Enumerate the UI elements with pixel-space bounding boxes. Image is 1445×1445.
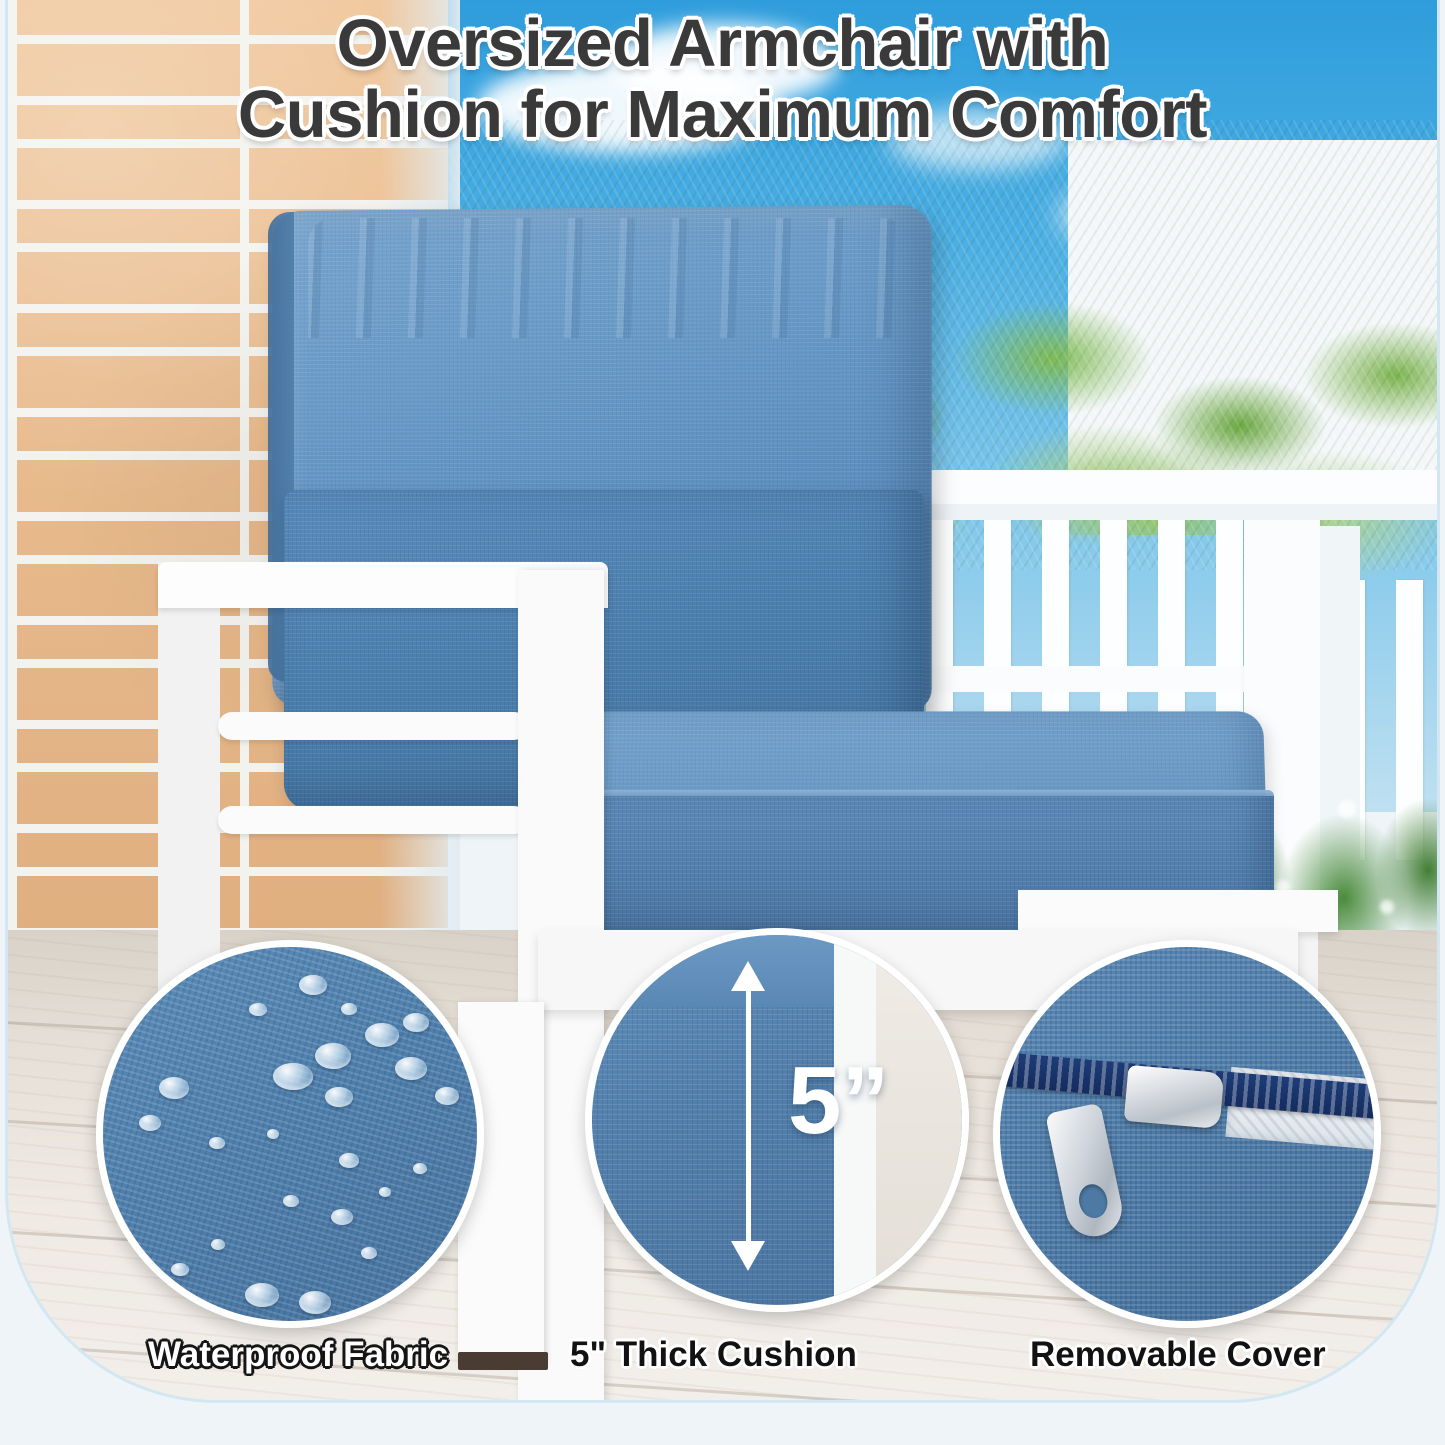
zipper-slider-icon bbox=[1124, 1065, 1225, 1129]
measurement-value: 5” bbox=[788, 1053, 889, 1149]
armrest-slat bbox=[218, 806, 528, 834]
feature-circle-removable-cover bbox=[993, 940, 1381, 1328]
product-feature-image: 5” Oversized Armchair with Cushion for M… bbox=[0, 0, 1445, 1445]
headline-line-1: Oversized Armchair with bbox=[337, 6, 1109, 81]
left-armrest bbox=[158, 562, 608, 910]
feature-circle-thickness: 5” bbox=[585, 928, 969, 1312]
feature-circle-waterproof bbox=[96, 940, 484, 1328]
chair-leg-cap bbox=[458, 1352, 548, 1370]
feature-label-waterproof: Waterproof Fabric bbox=[148, 1335, 448, 1375]
page-title: Oversized Armchair with Cushion for Maxi… bbox=[0, 8, 1445, 150]
waterproof-fabric-swatch bbox=[103, 947, 477, 1321]
back-cushion-folds bbox=[308, 218, 908, 338]
measure-arrow-down-icon bbox=[731, 1241, 765, 1271]
headline-line-2: Cushion for Maximum Comfort bbox=[0, 79, 1445, 150]
photo-plate: 5” bbox=[8, 0, 1437, 1400]
feature-label-thickness: 5" Thick Cushion bbox=[570, 1335, 857, 1375]
feature-label-removable-cover: Removable Cover bbox=[1030, 1335, 1326, 1375]
armrest-slat bbox=[218, 712, 528, 740]
measure-arrow-line bbox=[746, 985, 751, 1251]
right-armrest-top bbox=[1018, 890, 1338, 932]
